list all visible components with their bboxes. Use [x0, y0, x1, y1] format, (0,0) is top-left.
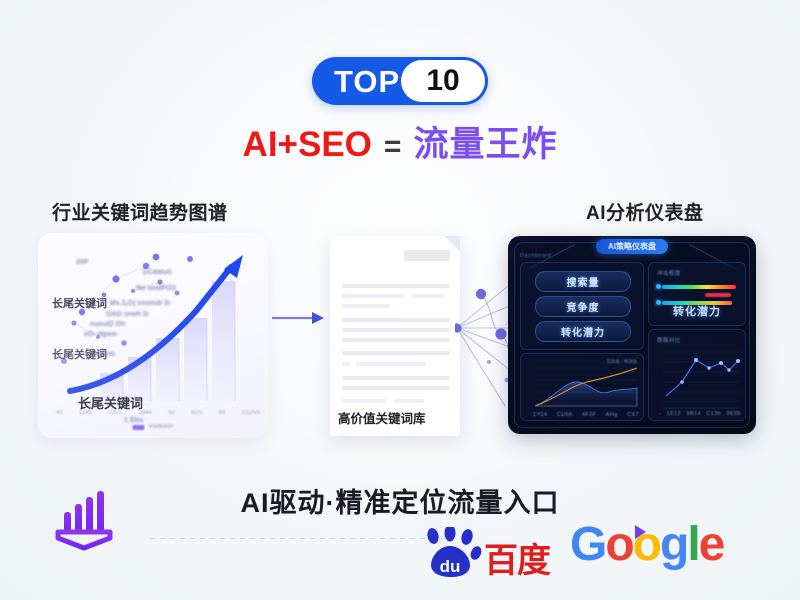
baidu-logo: du 百度 — [420, 527, 550, 579]
x-tick: 50 — [168, 410, 175, 416]
line-chart-svg — [649, 330, 745, 420]
dashboard-title-pill: AI策略仪表盘 — [596, 239, 668, 254]
gradient-marker — [705, 293, 731, 297]
badge-number-circle: 10 — [401, 60, 485, 102]
top-rank-badge: TOP 10 — [312, 57, 488, 105]
google-letter-o1: o — [605, 518, 632, 571]
bar-chart-stack-icon — [48, 484, 120, 556]
flow-arrow-icon — [272, 310, 324, 326]
headline: AI+SEO=流量王炸 — [0, 127, 800, 162]
fuzzy-text-6: eO--dgwo- — [84, 331, 119, 338]
gradient-overlay-label: 转化潜力 — [649, 303, 745, 319]
x-tick: 5US — [191, 410, 203, 416]
section-title-right: AI分析仪表盘 — [586, 198, 704, 225]
headline-right: 流量王炸 — [413, 125, 557, 164]
fuzzy-text-2: No sindPO3 — [136, 285, 176, 292]
baidu-paw-icon: du — [420, 527, 482, 579]
doc-header-chip — [404, 250, 450, 261]
fuzzy-text-8: 20P — [76, 259, 88, 266]
area-x-tick: AHg — [606, 412, 618, 418]
dashboard-pill-competition[interactable]: 竞争度 — [535, 296, 631, 317]
search-engine-logos: du 百度 Google — [420, 521, 750, 583]
x-tick: 1844 — [138, 410, 151, 416]
badge-number: 10 — [426, 66, 459, 96]
metric-pills-panel: 搜索量 竞争度 转化潜力 — [520, 262, 644, 350]
section-title-left: 行业关键词趋势图谱 — [52, 198, 228, 225]
keyword-library-doc: 高价值关键词库 — [330, 236, 460, 436]
data-comparison-panel: 数据对比 — [648, 329, 746, 421]
fuzzy-text-1: 1/Cdatuti — [142, 269, 172, 276]
google-logo: Google — [570, 521, 723, 569]
gradient-bar-1 — [662, 285, 736, 289]
fuzzy-text-3: Ms.3,O) snomdi 3i — [110, 300, 170, 307]
baidu-du-text: du — [440, 557, 461, 576]
headline-equals: = — [384, 130, 402, 163]
slide-canvas: TOP 10 AI+SEO=流量王炸 行业关键词趋势图谱 AI分析仪表盘 — [0, 0, 800, 600]
fuzzy-text-7: aEbchi — [92, 351, 115, 358]
gradient-start-dot-icon — [656, 284, 661, 289]
area-x-tick: 1Y14 — [533, 412, 547, 418]
trend-area-panel: 实际值 / 预测值 1Y14 — [520, 353, 644, 421]
x-tick: 1145 — [79, 410, 92, 416]
line-x-tick: C13b — [706, 411, 721, 417]
line-x-tick: 0E9b — [727, 411, 741, 417]
baidu-chinese-text: 百度 — [484, 544, 550, 578]
area-x-tick: 4F3F — [582, 412, 596, 418]
doc-label: 高价值关键词库 — [338, 408, 426, 427]
legend-swatch-icon — [132, 425, 144, 430]
axis-caption: 1 Ebu — [124, 417, 143, 424]
trend-chart-legend: Voldtotoh — [132, 424, 173, 430]
gradient-panel-title: 冲击程度 — [657, 269, 681, 277]
line-x-tick: - — [659, 411, 661, 417]
ai-dashboard-card: AI策略仪表盘 Dashboard 搜索量 竞争度 转化潜力 实际值 / 预测值 — [508, 236, 756, 434]
keyword-trend-card: 长尾关键词 长尾关键词 长尾关键词 1/Cdatuti No sindPO3 M… — [38, 233, 268, 438]
line-x-tick: 9B14 — [687, 411, 701, 417]
x-tick: 72LC — [108, 410, 122, 416]
bottom-title: AI驱动·精准定位流量入口 — [0, 481, 800, 520]
google-letter-o2: o — [633, 518, 660, 571]
headline-left: AI+SEO — [243, 125, 372, 164]
dashboard-pill-search-volume[interactable]: 搜索量 — [535, 271, 631, 292]
google-letter-l: l — [687, 518, 698, 571]
impact-gradient-panel: 冲击程度 转化潜力 — [648, 262, 746, 326]
trend-chart-x-axis: 40 1145 72LC 1844 50 5US 69 102AN — [56, 410, 260, 416]
area-x-tick: CU66 — [557, 412, 573, 418]
dashboard-pill-conversion[interactable]: 转化潜力 — [535, 321, 631, 342]
google-letter-G: G — [570, 518, 605, 571]
line-x-tick: 1E12 — [667, 411, 681, 417]
badge-top-label: TOP — [334, 66, 400, 97]
fuzzy-text-4: OAG snofi 3i — [106, 311, 148, 318]
area-x-tick: CX7 — [627, 412, 639, 418]
area-chart-svg — [521, 354, 643, 420]
longtail-label-1: 长尾关键词 — [52, 295, 107, 311]
fuzzy-text-5: euouiD Oh — [90, 321, 125, 328]
legend-label: Voldtotoh — [148, 424, 173, 430]
bottom-dashed-divider — [150, 538, 450, 539]
trend-chart-svg — [38, 233, 268, 438]
x-tick: 69 — [219, 410, 226, 416]
dashboard-corner-tag: Dashboard — [520, 253, 551, 259]
x-tick: 102AN — [242, 410, 260, 416]
google-letter-e: e — [699, 518, 724, 571]
x-tick: 40 — [56, 410, 63, 416]
google-letter-g: g — [660, 518, 687, 571]
